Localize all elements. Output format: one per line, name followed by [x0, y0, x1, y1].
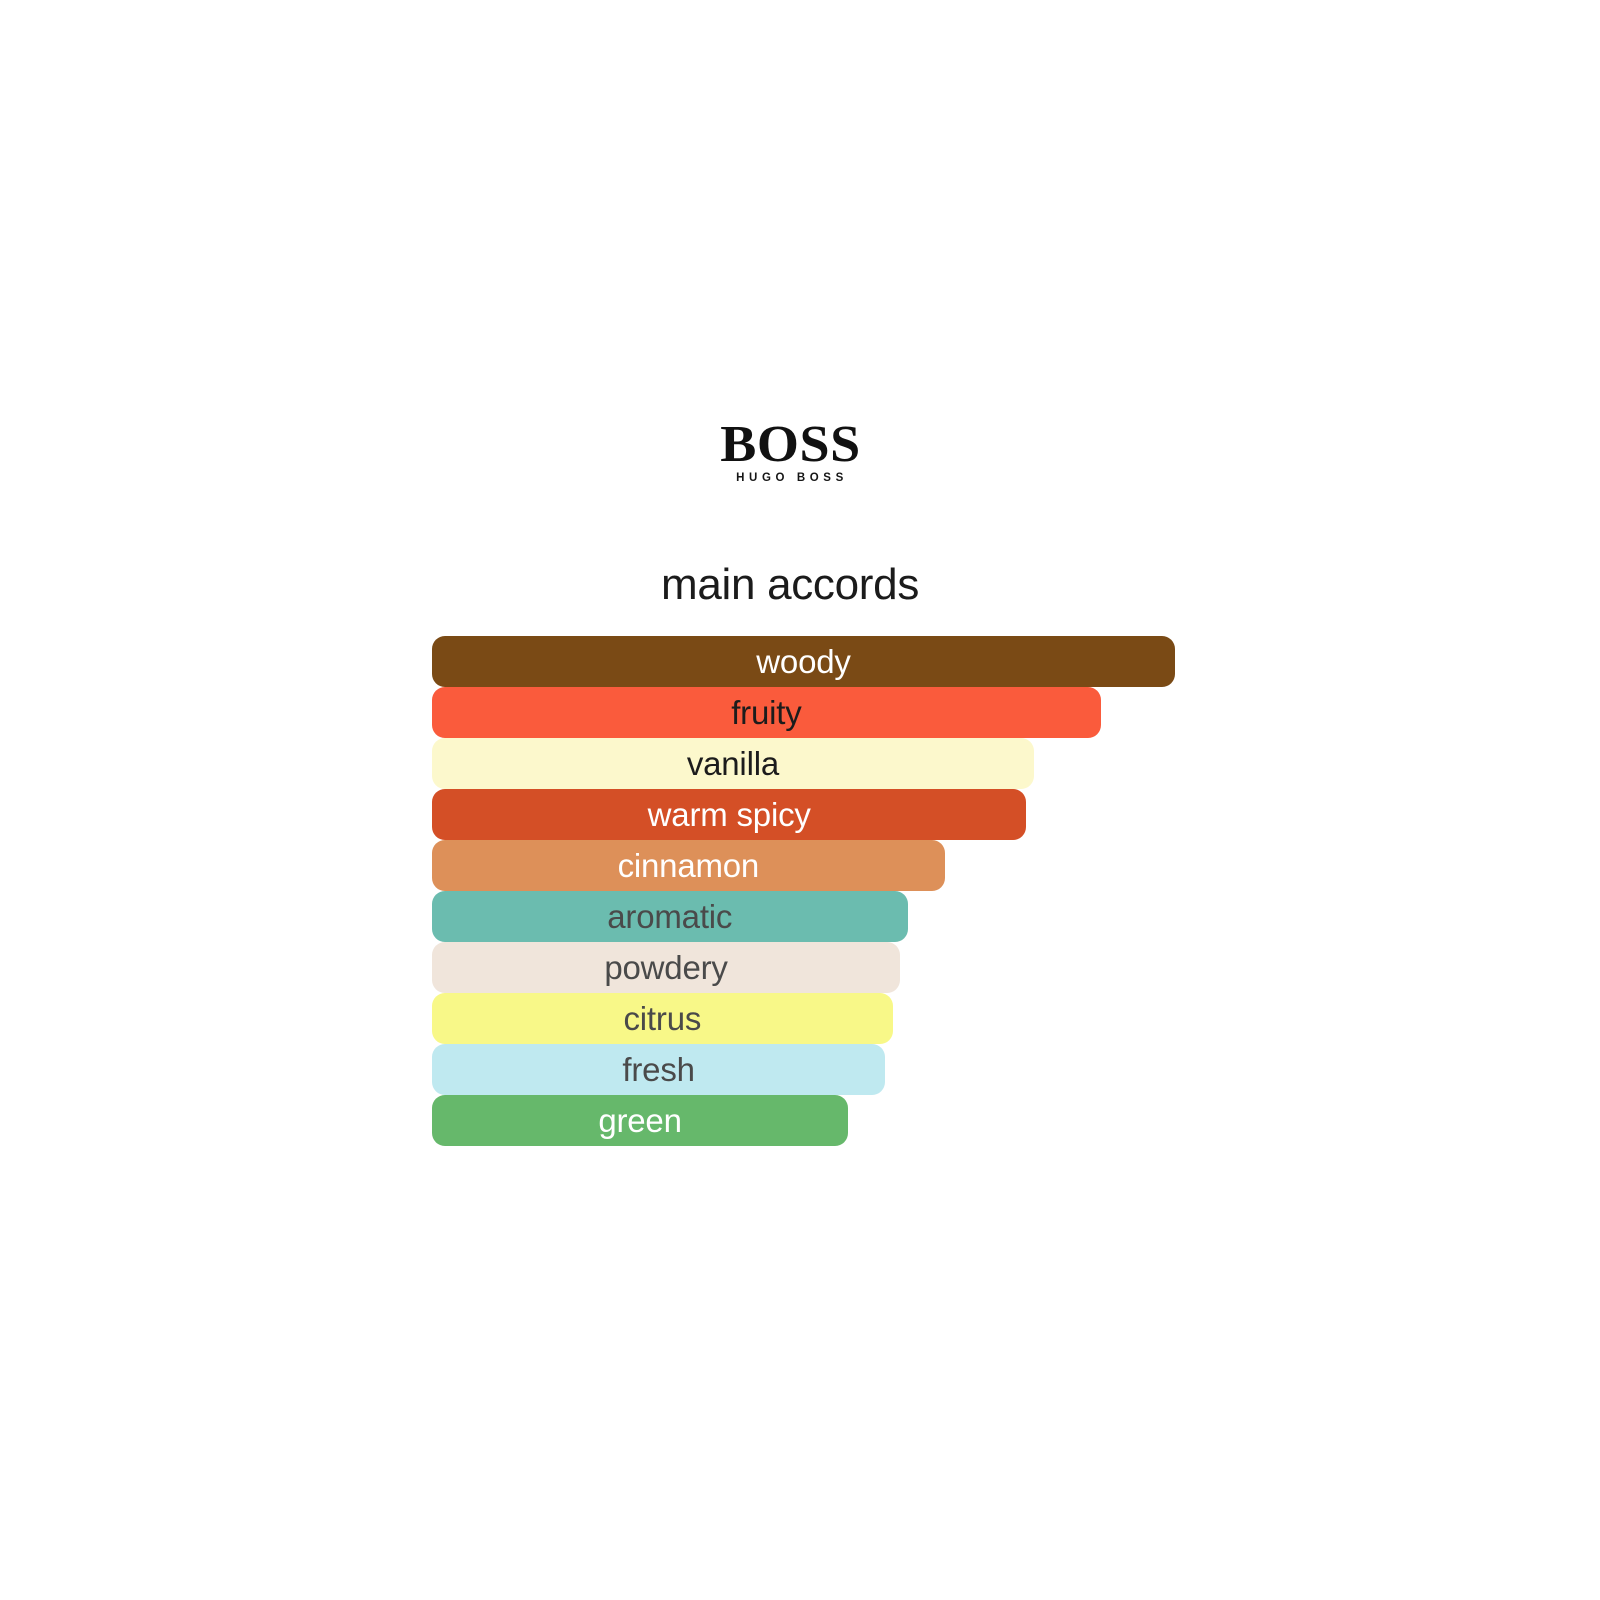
accord-bar-label: powdery — [604, 951, 727, 984]
accord-bar-list: woodyfruityvanillawarm spicycinnamonarom… — [432, 636, 1192, 1146]
accord-bar-row: citrus — [432, 993, 1192, 1044]
accord-bar-label: green — [598, 1104, 681, 1137]
accord-bar-row: woody — [432, 636, 1192, 687]
brand-subwordmark: HUGO BOSS — [732, 472, 848, 484]
accord-bar[interactable]: citrus — [432, 993, 893, 1044]
accord-bar[interactable]: fresh — [432, 1044, 885, 1095]
accord-bar-label: fresh — [622, 1053, 694, 1086]
accord-bar-label: warm spicy — [648, 798, 811, 831]
accord-bar[interactable]: fruity — [432, 687, 1101, 738]
accord-bar[interactable]: green — [432, 1095, 848, 1146]
accord-bar[interactable]: aromatic — [432, 891, 908, 942]
brand-wordmark: BOSS — [720, 421, 860, 469]
accord-bar[interactable]: vanilla — [432, 738, 1034, 789]
accord-bar-label: woody — [756, 645, 850, 678]
accord-bar[interactable]: warm spicy — [432, 789, 1026, 840]
accord-bar-label: fruity — [731, 696, 801, 729]
accord-bar-row: vanilla — [432, 738, 1192, 789]
page-title: main accords — [432, 560, 1148, 610]
accord-bar[interactable]: cinnamon — [432, 840, 945, 891]
accord-bar-row: warm spicy — [432, 789, 1192, 840]
accord-bar-label: aromatic — [607, 900, 732, 933]
brand-logo: BOSS HUGO BOSS — [710, 380, 870, 525]
accord-bar-row: aromatic — [432, 891, 1192, 942]
accord-bar[interactable]: woody — [432, 636, 1175, 687]
accord-bar-row: powdery — [432, 942, 1192, 993]
accord-bar-row: green — [432, 1095, 1192, 1146]
accord-bar-row: fresh — [432, 1044, 1192, 1095]
accord-bar-label: cinnamon — [618, 849, 760, 882]
accord-bar[interactable]: powdery — [432, 942, 900, 993]
accord-bar-label: vanilla — [687, 747, 779, 780]
accord-bar-row: cinnamon — [432, 840, 1192, 891]
main-accords-chart: main accords woodyfruityvanillawarm spic… — [432, 560, 1192, 1146]
accord-bar-row: fruity — [432, 687, 1192, 738]
accord-bar-label: citrus — [624, 1002, 702, 1035]
